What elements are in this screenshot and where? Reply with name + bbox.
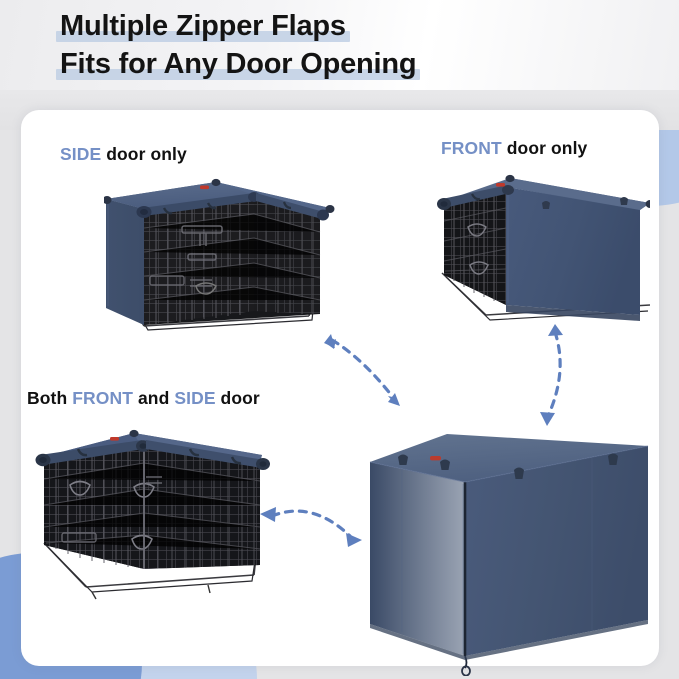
crate-image-fully-covered [362,424,654,676]
title-line-1: Multiple Zipper Flaps [56,9,350,43]
crate-image-both-doors-open [22,415,284,607]
label-side-keyword: SIDE [60,144,101,164]
crate-image-side-door-only [104,168,336,343]
label-side-rest: door only [101,144,187,164]
label-both-suffix: door [216,388,260,408]
label-front-rest: door only [502,138,588,158]
label-side-door-only: SIDE door only [60,144,187,165]
arrow-both-to-covered [250,492,380,567]
label-both-prefix: Both [27,388,72,408]
crate-image-front-door-only [424,165,650,327]
label-both-front-keyword: FRONT [72,388,133,408]
label-both-side-keyword: SIDE [174,388,215,408]
title-line-2: Fits for Any Door Opening [56,47,420,81]
arrow-side-to-covered [300,318,420,423]
title-line-2-text: Fits for Any Door Opening [60,48,416,80]
arrow-front-to-covered [512,310,602,445]
label-both-conjunction: and [133,388,174,408]
title-line-1-text: Multiple Zipper Flaps [60,10,346,42]
label-both-doors: Both FRONT and SIDE door [27,388,260,409]
page-title: Multiple Zipper Flaps Fits for Any Door … [56,9,420,81]
label-front-keyword: FRONT [441,138,502,158]
label-front-door-only: FRONT door only [441,138,587,159]
